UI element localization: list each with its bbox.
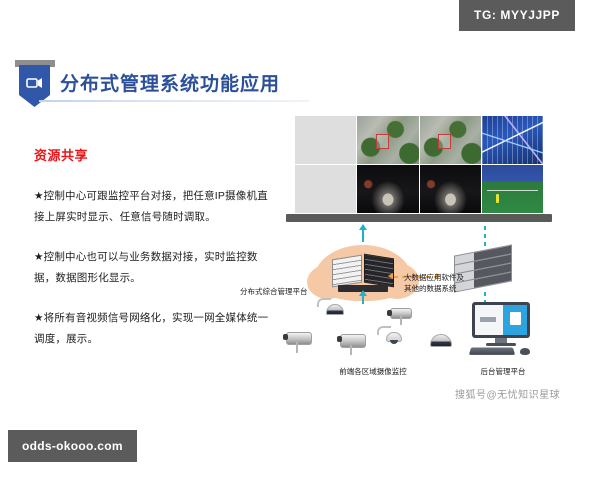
page-title: 分布式管理系统功能应用: [60, 69, 280, 96]
server-stack-dark-icon: [364, 254, 394, 288]
video-wall-cell-blank: [295, 165, 356, 213]
page-header: 分布式管理系统功能应用: [12, 60, 312, 110]
video-wall-cell-aerial: [420, 116, 481, 164]
header-underline: [39, 100, 309, 102]
uplink-arrow-stem: [362, 228, 364, 242]
video-wall-cell-blank: [295, 116, 356, 164]
uplink-arrow-head: [359, 224, 367, 230]
box-camera-icon: [390, 308, 412, 319]
desktop-computer-icon: [468, 302, 536, 358]
bullet-camera-icon: [340, 334, 366, 348]
tg-watermark-badge: TG: MYYJJPP: [459, 0, 575, 31]
dome-camera-icon: [430, 334, 452, 347]
left-text-panel: 资源共享 ★控制中心可跟监控平台对接，把任意IP摄像机直接上屏实时显示、任意信号…: [34, 145, 274, 369]
video-wall-cell-arena: [357, 165, 418, 213]
camera-group: [278, 304, 458, 364]
video-wall-cell-arena: [420, 165, 481, 213]
system-architecture-diagram: 分布式综合管理平台 大数据应用软件及其他的数据系统: [282, 108, 582, 398]
backend-platform-label: 后台管理平台: [458, 366, 548, 377]
video-wall-base: [286, 214, 552, 222]
server-stack-light-icon: [332, 255, 362, 288]
cameras-label: 前端各区域摄像监控: [288, 366, 458, 377]
video-wall-cell-court: [482, 165, 543, 213]
url-watermark-badge: odds-okooo.com: [8, 430, 137, 462]
camera-uplink-arrow-head: [359, 290, 367, 296]
bullet-item: ★将所有音视频信号网络化，实现一网全媒体统一调度，展示。: [34, 308, 274, 350]
data-link-arrow-left: [388, 273, 393, 279]
bullet-item: ★控制中心可跟监控平台对接，把任意IP摄像机直接上屏实时显示、任意信号随时调取。: [34, 186, 274, 228]
sohu-watermark: 搜狐号@无忧知识星球: [455, 386, 560, 401]
cloud-platform-label: 分布式综合管理平台: [240, 286, 430, 297]
bullet-item: ★控制中心也可以与业务数据对接，实时监控数据，数据图形化显示。: [34, 247, 274, 289]
big-data-label: 大数据应用软件及其他的数据系统: [404, 273, 466, 295]
rack-to-wall-dashed-link: [484, 226, 486, 248]
video-wall-cell-aerial: [357, 116, 418, 164]
video-wall-cell-data: [482, 116, 543, 164]
bullet-camera-icon: [286, 332, 312, 345]
video-wall: [295, 116, 543, 213]
section-title: 资源共享: [34, 145, 274, 164]
keyboard-icon: [469, 347, 515, 354]
mouse-icon: [520, 348, 530, 355]
dome-camera-icon: [326, 304, 344, 315]
ptz-camera-icon: [386, 332, 402, 342]
